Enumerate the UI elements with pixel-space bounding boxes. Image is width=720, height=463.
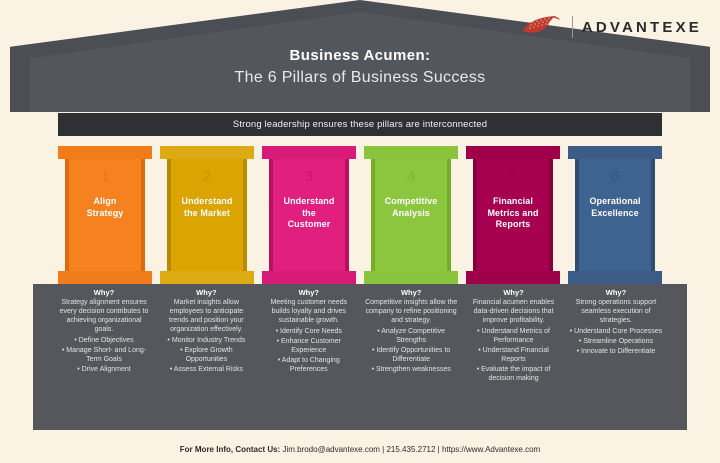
detail-bullet-list: • Understand Metrics of Performance• Und…	[467, 327, 561, 383]
pillar-number: 3	[305, 169, 313, 185]
page-title: Business Acumen:	[0, 46, 720, 66]
footer-label: For More Info, Contact Us:	[180, 445, 280, 454]
pillar-cap	[364, 146, 458, 159]
details-panel: Why?Strategy alignment ensures every dec…	[33, 284, 687, 430]
pillar-title: UnderstandtheCustomer	[280, 196, 337, 231]
pillar-edge-left	[473, 159, 477, 271]
detail-bullet: • Manage Short- and Long-Term Goals	[57, 346, 151, 364]
pillar-edge-left	[65, 159, 69, 271]
pillar-cap	[160, 146, 254, 159]
detail-bullet-list: • Understand Core Processes• Streamline …	[569, 327, 663, 356]
pillar-cap	[568, 146, 662, 159]
header-title-block: Business Acumen: The 6 Pillars of Busine…	[0, 46, 720, 89]
pillar-shaft: 1AlignStrategy	[65, 159, 145, 271]
pillar-title: FinancialMetrics andReports	[484, 196, 541, 231]
detail-column-5: Why?Financial acumen enables data-driven…	[467, 288, 561, 426]
detail-column-4: Why?Competitive insights allow the compa…	[364, 288, 458, 426]
detail-bullet: • Understand Financial Reports	[467, 346, 561, 364]
pillar-edge-right	[447, 159, 451, 271]
pillar-cap	[466, 146, 560, 159]
pillar-5[interactable]: 5FinancialMetrics andReports	[466, 146, 560, 284]
detail-bullet: • Analyze Competitive Strengths	[364, 327, 458, 345]
pillar-edge-left	[371, 159, 375, 271]
detail-bullet: • Explore Growth Opportunities	[159, 346, 253, 364]
why-body: Meeting customer needs builds loyalty an…	[262, 298, 356, 325]
detail-bullet: • Assess External Risks	[159, 365, 253, 374]
pillar-number: 5	[509, 169, 517, 185]
why-body: Market insights allow employees to antic…	[159, 298, 253, 334]
pillar-cap	[262, 146, 356, 159]
right-margin	[710, 0, 720, 463]
detail-bullet: • Strengthen weaknesses	[364, 365, 458, 374]
pillar-number: 1	[101, 169, 109, 185]
detail-bullet: • Identify Core Needs	[262, 327, 356, 336]
pillar-edge-right	[651, 159, 655, 271]
detail-bullet: • Innovate to Differentiate	[569, 347, 663, 356]
detail-bullet: • Define Objectives	[57, 336, 151, 345]
footer-contact-details[interactable]: Jim.brodo@advantexe.com | 215.435.2712 |…	[280, 445, 540, 454]
pillar-edge-right	[141, 159, 145, 271]
detail-bullet-list: • Monitor Industry Trends• Explore Growt…	[159, 336, 253, 374]
pillar-title: CompetitiveAnalysis	[382, 196, 441, 219]
detail-column-6: Why?Strong operations support seamless e…	[569, 288, 663, 426]
pillar-number: 6	[611, 169, 619, 185]
infographic-canvas: Business Acumen: The 6 Pillars of Busine…	[0, 0, 720, 463]
detail-bullet: • Monitor Industry Trends	[159, 336, 253, 345]
why-label: Why?	[569, 288, 663, 297]
pillar-4[interactable]: 4CompetitiveAnalysis	[364, 146, 458, 284]
pillar-base	[364, 271, 458, 284]
pillar-edge-left	[575, 159, 579, 271]
pillar-6[interactable]: 6OperationalExcellence	[568, 146, 662, 284]
detail-column-3: Why?Meeting customer needs builds loyalt…	[262, 288, 356, 426]
why-body: Strategy alignment ensures every decisio…	[57, 298, 151, 334]
pillar-number: 4	[407, 169, 415, 185]
detail-column-2: Why?Market insights allow employees to a…	[159, 288, 253, 426]
left-margin	[0, 0, 10, 463]
pillar-shaft: 6OperationalExcellence	[575, 159, 655, 271]
pillar-number: 2	[203, 169, 211, 185]
pillar-base	[262, 271, 356, 284]
footer-contact: For More Info, Contact Us: Jim.brodo@adv…	[0, 445, 720, 454]
detail-column-1: Why?Strategy alignment ensures every dec…	[57, 288, 151, 426]
why-label: Why?	[159, 288, 253, 297]
pillar-edge-right	[549, 159, 553, 271]
pillar-edge-right	[243, 159, 247, 271]
pillar-base	[568, 271, 662, 284]
pillar-title: AlignStrategy	[84, 196, 127, 219]
why-label: Why?	[467, 288, 561, 297]
detail-bullet: • Drive Alignment	[57, 365, 151, 374]
pillar-edge-left	[269, 159, 273, 271]
pillar-edge-right	[345, 159, 349, 271]
pillars-row: 1AlignStrategy2Understandthe Market3Unde…	[58, 146, 662, 284]
detail-bullet: • Evaluate the impact of decision making	[467, 365, 561, 383]
pillar-base	[160, 271, 254, 284]
pillar-base	[58, 271, 152, 284]
page-subtitle: The 6 Pillars of Business Success	[0, 67, 720, 89]
why-label: Why?	[364, 288, 458, 297]
why-label: Why?	[57, 288, 151, 297]
pillar-cap	[58, 146, 152, 159]
detail-bullet: • Identify Opportunities to Differentiat…	[364, 346, 458, 364]
pillar-shaft: 5FinancialMetrics andReports	[473, 159, 553, 271]
pillar-3[interactable]: 3UnderstandtheCustomer	[262, 146, 356, 284]
leadership-banner: Strong leadership ensures these pillars …	[58, 113, 662, 136]
why-body: Competitive insights allow the company t…	[364, 298, 458, 325]
details-row: Why?Strategy alignment ensures every dec…	[57, 288, 663, 426]
detail-bullet: • Enhance Customer Experience	[262, 337, 356, 355]
pillar-1[interactable]: 1AlignStrategy	[58, 146, 152, 284]
detail-bullet: • Streamline Operations	[569, 337, 663, 346]
brand-logo: ADVANTEXE	[521, 14, 702, 40]
logo-wordmark: ADVANTEXE	[582, 19, 702, 36]
detail-bullet: • Understand Core Processes	[569, 327, 663, 336]
why-body: Financial acumen enables data-driven dec…	[467, 298, 561, 325]
pillar-title: OperationalExcellence	[586, 196, 643, 219]
detail-bullet: • Understand Metrics of Performance	[467, 327, 561, 345]
detail-bullet: • Adapt to Changing Preferences	[262, 356, 356, 374]
why-body: Strong operations support seamless execu…	[569, 298, 663, 325]
pillar-title: Understandthe Market	[178, 196, 235, 219]
pillar-shaft: 4CompetitiveAnalysis	[371, 159, 451, 271]
pillar-shaft: 3UnderstandtheCustomer	[269, 159, 349, 271]
why-label: Why?	[262, 288, 356, 297]
advantexe-swoosh-icon	[521, 14, 563, 40]
detail-bullet-list: • Analyze Competitive Strengths• Identif…	[364, 327, 458, 374]
detail-bullet-list: • Define Objectives• Manage Short- and L…	[57, 336, 151, 374]
pillar-2[interactable]: 2Understandthe Market	[160, 146, 254, 284]
banner-text: Strong leadership ensures these pillars …	[233, 119, 487, 130]
pillar-edge-left	[167, 159, 171, 271]
detail-bullet-list: • Identify Core Needs• Enhance Customer …	[262, 327, 356, 374]
pillar-shaft: 2Understandthe Market	[167, 159, 247, 271]
logo-divider	[572, 16, 573, 38]
pillar-base	[466, 271, 560, 284]
